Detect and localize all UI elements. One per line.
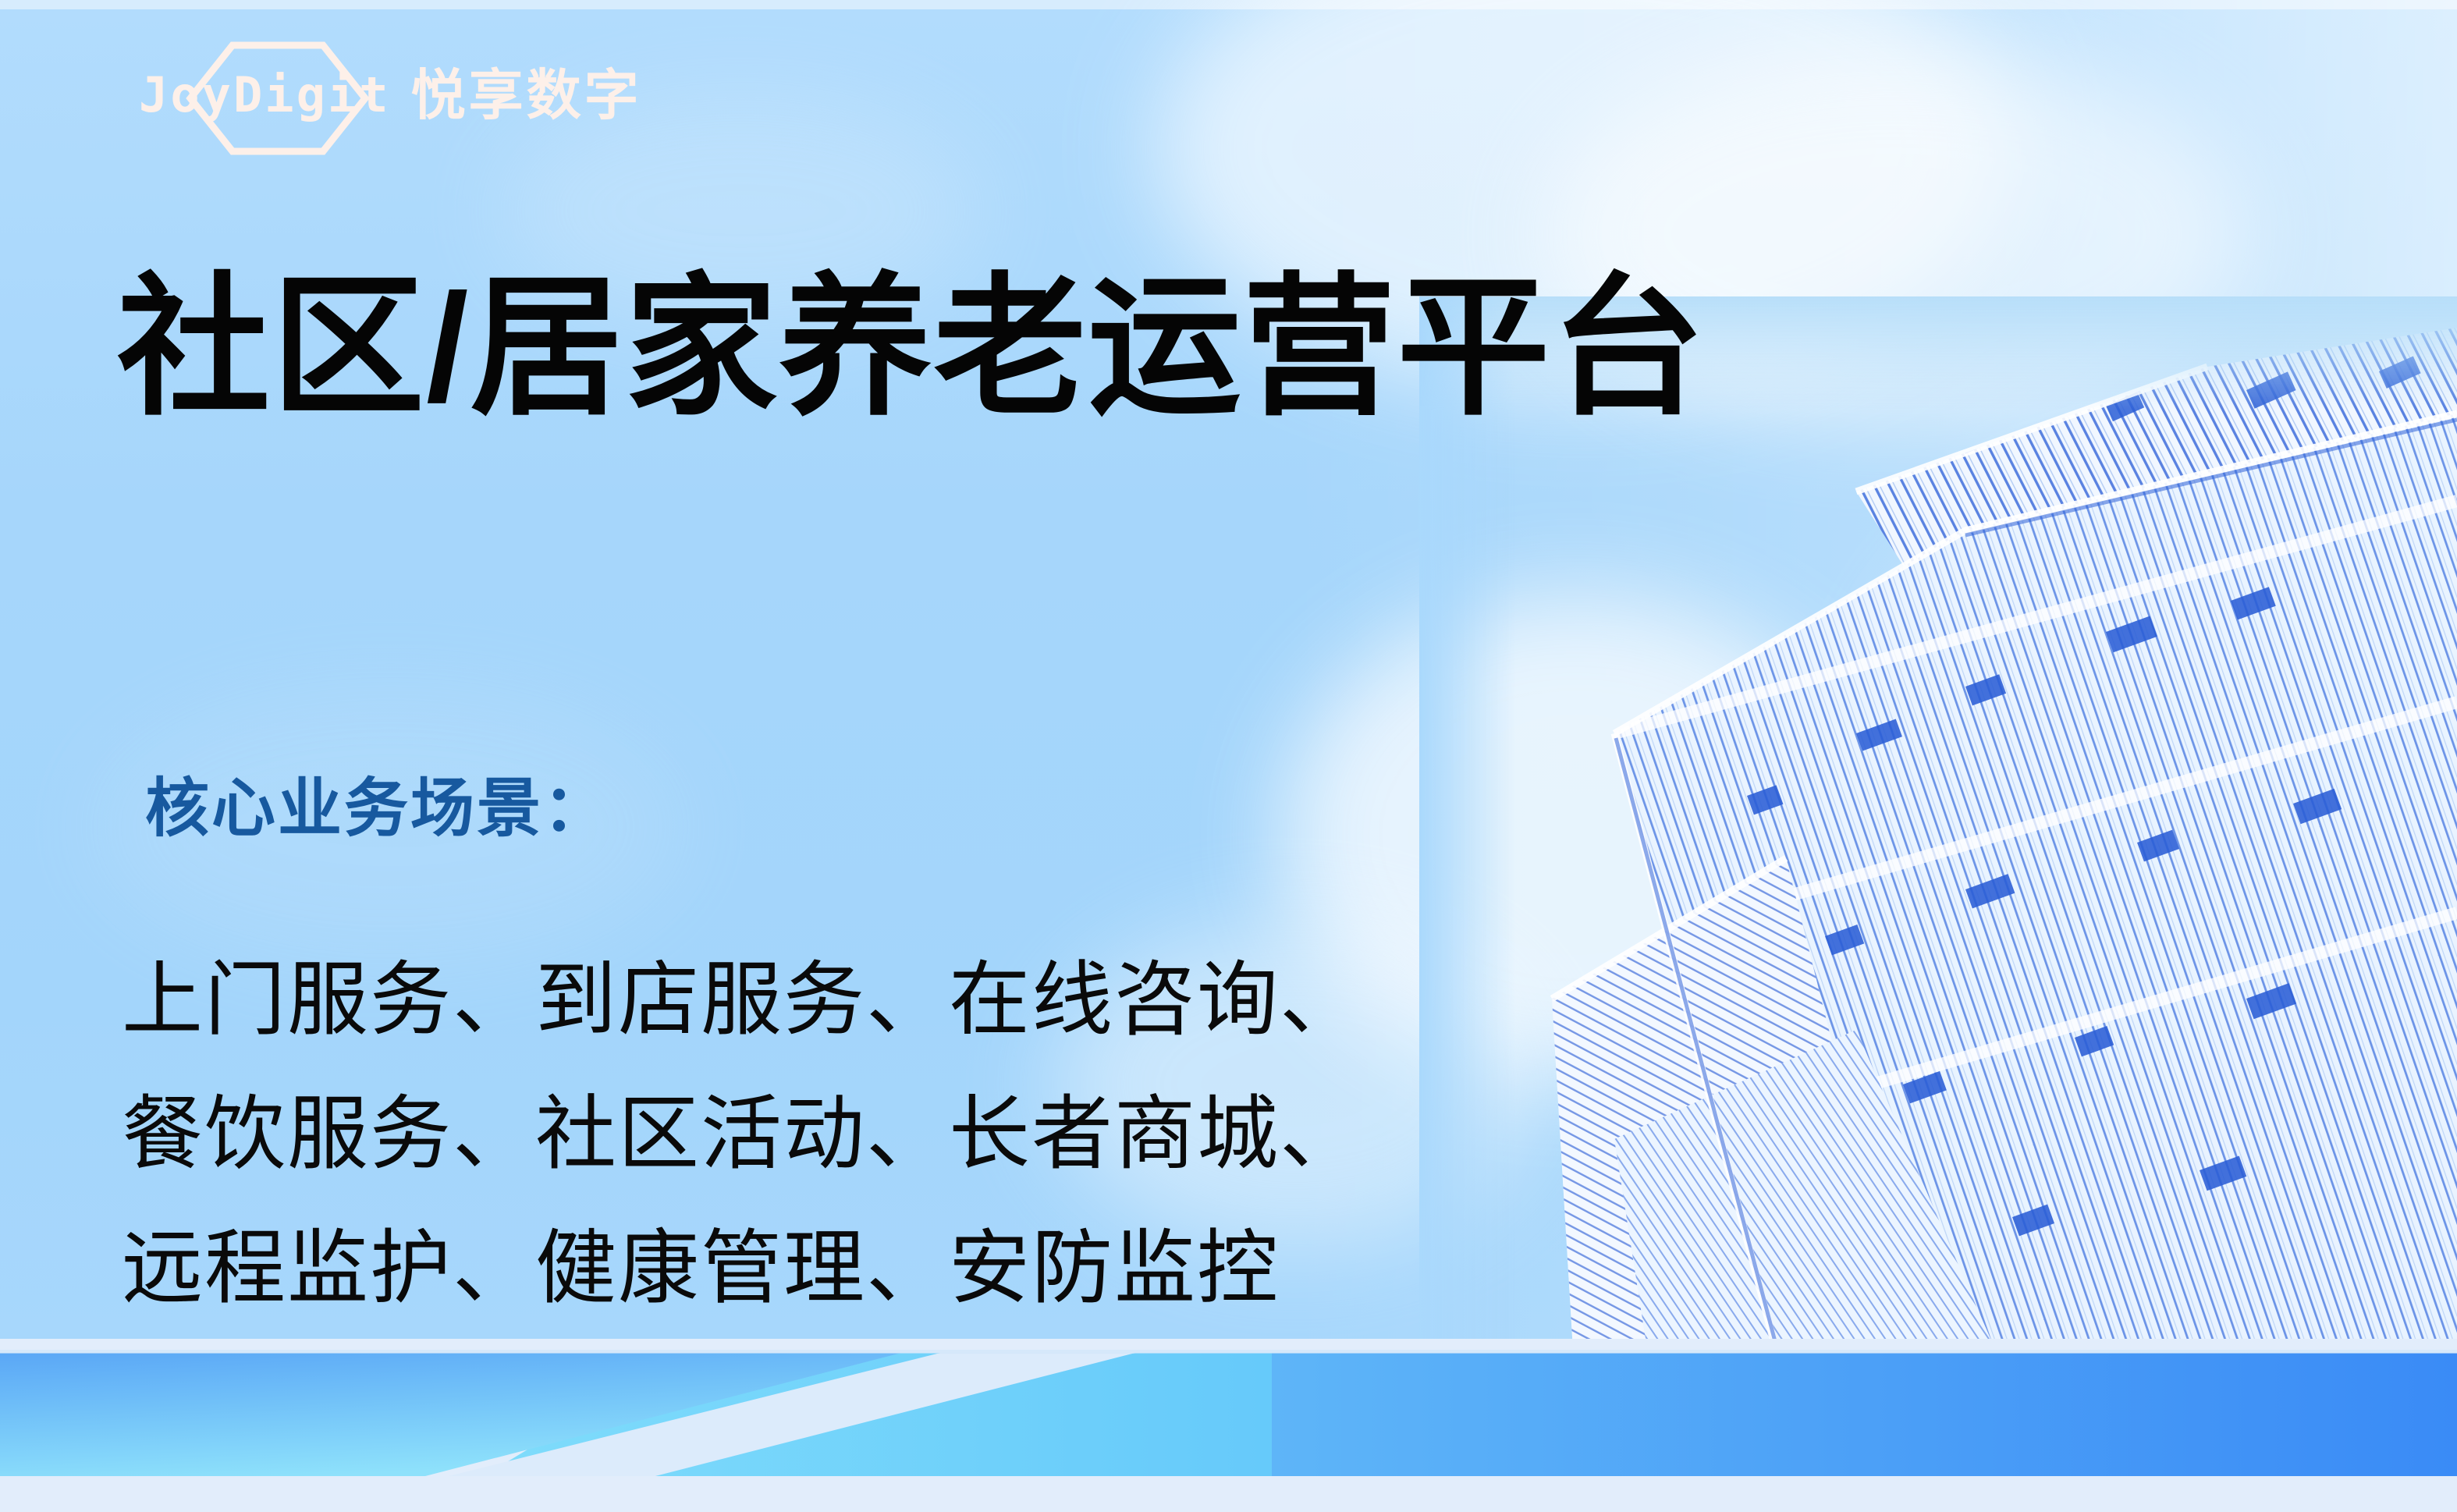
scenario-line: 上门服务、到店服务、在线咨询、 <box>122 933 1362 1067</box>
bottom-decorative-band <box>0 1339 2457 1512</box>
top-edge-strip <box>0 0 2457 9</box>
scenario-line: 餐饮服务、社区活动、长者商城、 <box>122 1067 1362 1201</box>
section-heading: 核心业务场景： <box>145 777 609 841</box>
brand-logo[interactable]: JoyDigit 悦享数字 <box>139 48 642 142</box>
logo-wordmark: JoyDigit <box>139 71 391 119</box>
page-title: 社区/居家养老运营平台 <box>117 272 1706 424</box>
logo-chinese-name: 悦享数字 <box>411 68 642 122</box>
slide-canvas: JoyDigit 悦享数字 社区/居家养老运营平台 核心业务场景： 上门服务、到… <box>0 0 2457 1512</box>
scenario-list: 上门服务、到店服务、在线咨询、 餐饮服务、社区活动、长者商城、 远程监护、健康管… <box>122 933 1362 1336</box>
scenario-line: 远程监护、健康管理、安防监控 <box>122 1201 1362 1336</box>
